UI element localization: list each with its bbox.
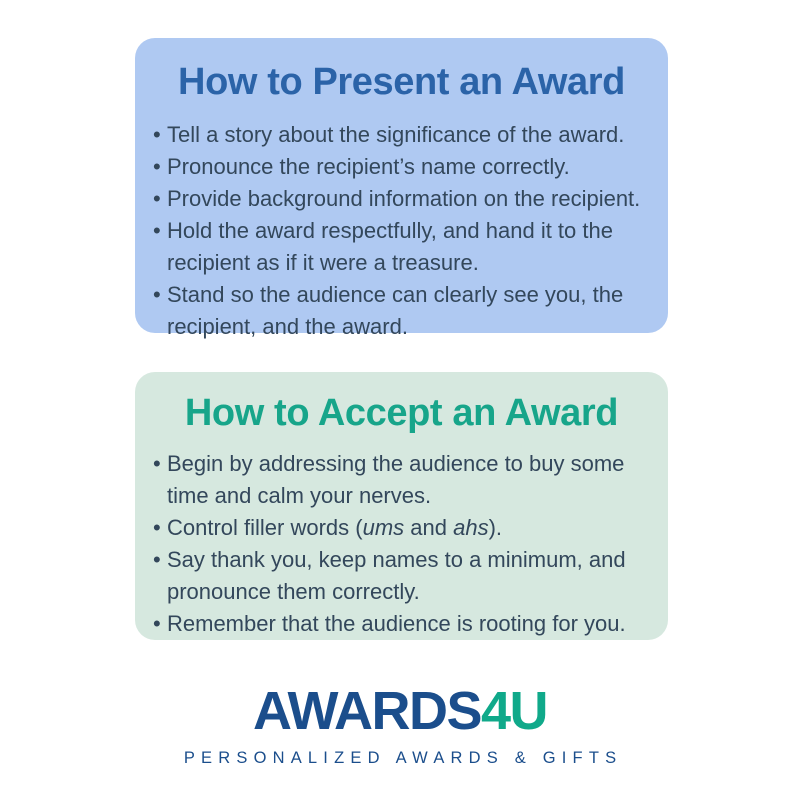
list-item-text: Stand so the audience can clearly see yo… [167,279,668,343]
bullet-dot-icon: • [153,183,161,215]
logo-wordmark: AWARDS4U [0,684,800,738]
list-item: • Tell a story about the significance of… [145,119,668,151]
list-item-text: Provide background information on the re… [167,183,668,215]
card-how-to-accept: How to Accept an Award • Begin by addres… [135,372,668,640]
card-present-bullet-list: • Tell a story about the significance of… [135,101,668,343]
bullet-dot-icon: • [153,608,161,640]
bullet-dot-icon: • [153,448,161,480]
list-item: • Control filler words (ums and ahs). [145,512,668,544]
card-accept-title: How to Accept an Award [135,372,668,432]
logo-tagline: PERSONALIZED AWARDS & GIFTS [0,750,800,767]
list-item: • Hold the award respectfully, and hand … [145,215,668,279]
bullet-dot-icon: • [153,151,161,183]
bullet-dot-icon: • [153,119,161,151]
bullet-dot-icon: • [153,512,161,544]
list-item: • Remember that the audience is rooting … [145,608,668,640]
list-item-text: Tell a story about the significance of t… [167,119,668,151]
list-item: • Say thank you, keep names to a minimum… [145,544,668,608]
list-item: • Stand so the audience can clearly see … [145,279,668,343]
list-item-text: Begin by addressing the audience to buy … [167,448,668,512]
list-item: • Begin by addressing the audience to bu… [145,448,668,512]
list-item-text: Hold the award respectfully, and hand it… [167,215,668,279]
list-item-text: Control filler words (ums and ahs). [167,512,668,544]
bullet-dot-icon: • [153,544,161,576]
bullet-dot-icon: • [153,215,161,247]
logo-word-primary: AWARDS [253,681,481,741]
card-how-to-present: How to Present an Award • Tell a story a… [135,38,668,333]
card-present-title: How to Present an Award [135,38,668,101]
brand-logo: AWARDS4U PERSONALIZED AWARDS & GIFTS [0,684,800,767]
list-item-text: Remember that the audience is rooting fo… [167,608,668,640]
logo-word-accent: 4U [481,681,547,741]
infographic-poster: How to Present an Award • Tell a story a… [0,0,800,800]
bullet-dot-icon: • [153,279,161,311]
list-item-text: Say thank you, keep names to a minimum, … [167,544,668,608]
list-item-text: Pronounce the recipient’s name correctly… [167,151,668,183]
list-item: • Provide background information on the … [145,183,668,215]
card-accept-bullet-list: • Begin by addressing the audience to bu… [135,432,668,640]
list-item: • Pronounce the recipient’s name correct… [145,151,668,183]
